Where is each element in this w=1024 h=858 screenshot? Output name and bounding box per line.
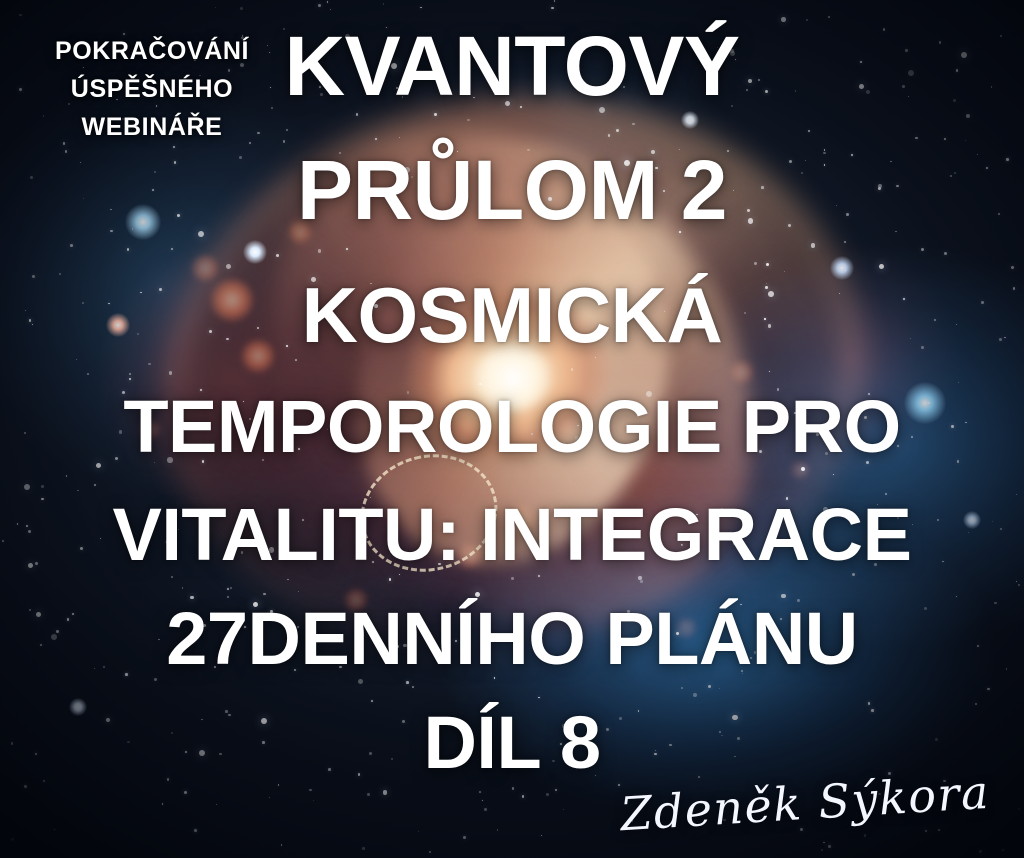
headline-line-4: TEMPOROLOGIE PRO <box>0 390 1024 464</box>
headline-line-5: VITALITU: INTEGRACE <box>0 498 1024 572</box>
headline-line-3: KOSMICKÁ <box>0 276 1024 354</box>
headline-line-1: KVANTOVÝ <box>0 24 1024 108</box>
headline-line-6: 27DENNÍHO PLÁNU <box>0 602 1024 676</box>
kicker-line-3: WEBINÁŘE <box>18 108 286 146</box>
webinar-title-poster: POKRAČOVÁNÍ ÚSPĚŠNÉHO WEBINÁŘE KVANTOVÝ … <box>0 0 1024 858</box>
headline-line-2: PRŮLOM 2 <box>0 148 1024 232</box>
headline-line-7: DÍL 8 <box>0 706 1024 780</box>
